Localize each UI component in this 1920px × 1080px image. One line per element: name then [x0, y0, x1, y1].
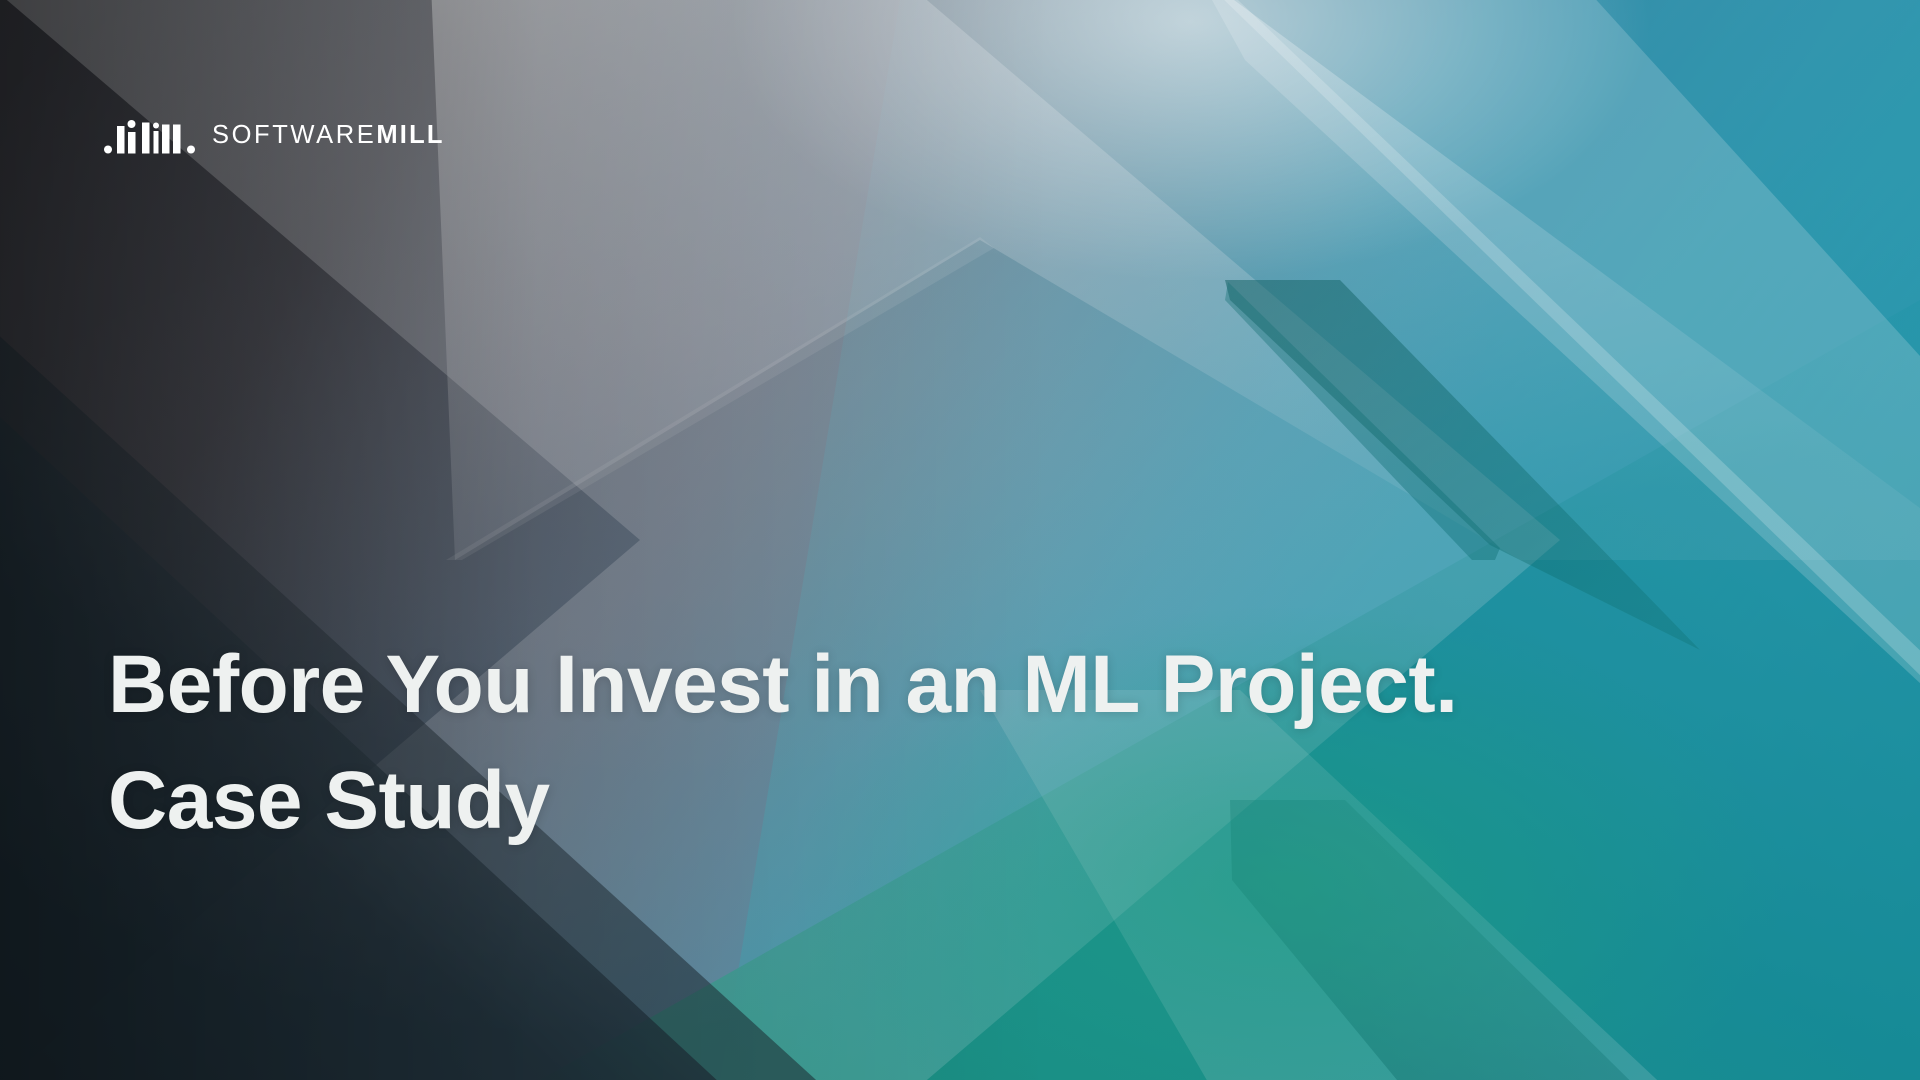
- slide-title-line-1: Before You Invest in an ML Project.: [108, 627, 1808, 743]
- slide-title-line-2: Case Study: [108, 743, 1808, 859]
- wordmark-software: SOFTWARE: [212, 123, 376, 149]
- softwaremill-logo[interactable]: SOFTWAREMILL: [104, 118, 445, 154]
- softwaremill-wordmark: SOFTWAREMILL: [212, 123, 445, 149]
- bg-left-vignette: [0, 0, 1920, 1080]
- title-slide: SOFTWAREMILL Before You Invest in an ML …: [0, 0, 1920, 1080]
- wordmark-mill: MILL: [376, 123, 444, 149]
- slide-title: Before You Invest in an ML Project. Case…: [108, 627, 1808, 859]
- background-artwork: [0, 0, 1920, 1080]
- softwaremill-bars-icon: [104, 118, 196, 154]
